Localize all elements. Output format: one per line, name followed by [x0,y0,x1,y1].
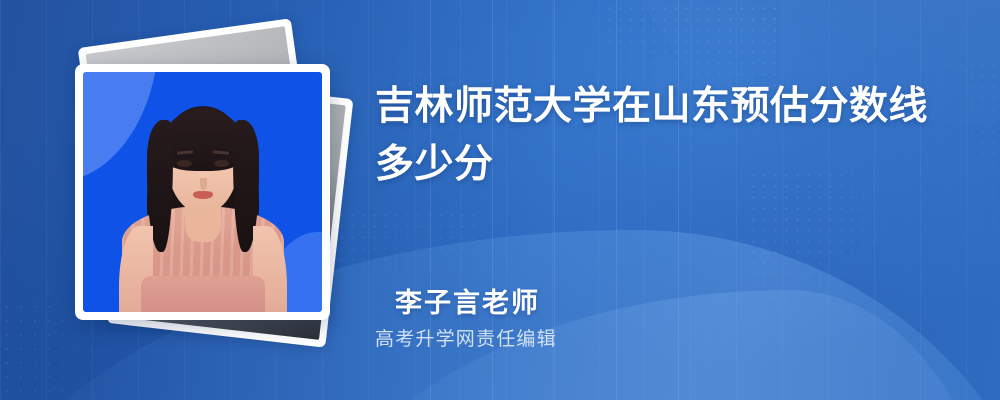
portrait-illustration [83,72,322,312]
author-photo [83,72,322,312]
author-role: 高考升学网责任编辑 [375,328,895,352]
article-banner: 吉林师范大学在山东预估分数线多少分 李子言老师 高考升学网责任编辑 [0,0,1000,400]
portrait-eye-left [177,160,192,167]
author-byline: 李子言老师 高考升学网责任编辑 [375,287,895,353]
banner-content: 吉林师范大学在山东预估分数线多少分 李子言老师 高考升学网责任编辑 [375,0,975,400]
portrait-eye-right [214,160,229,167]
portrait-dress-waist [141,276,265,312]
author-photo-stack [46,28,346,338]
author-name: 李子言老师 [375,287,895,321]
portrait-nose [200,178,207,190]
portrait-mouth [193,191,213,199]
author-photo-card [75,64,330,320]
article-title: 吉林师范大学在山东预估分数线多少分 [375,78,940,193]
